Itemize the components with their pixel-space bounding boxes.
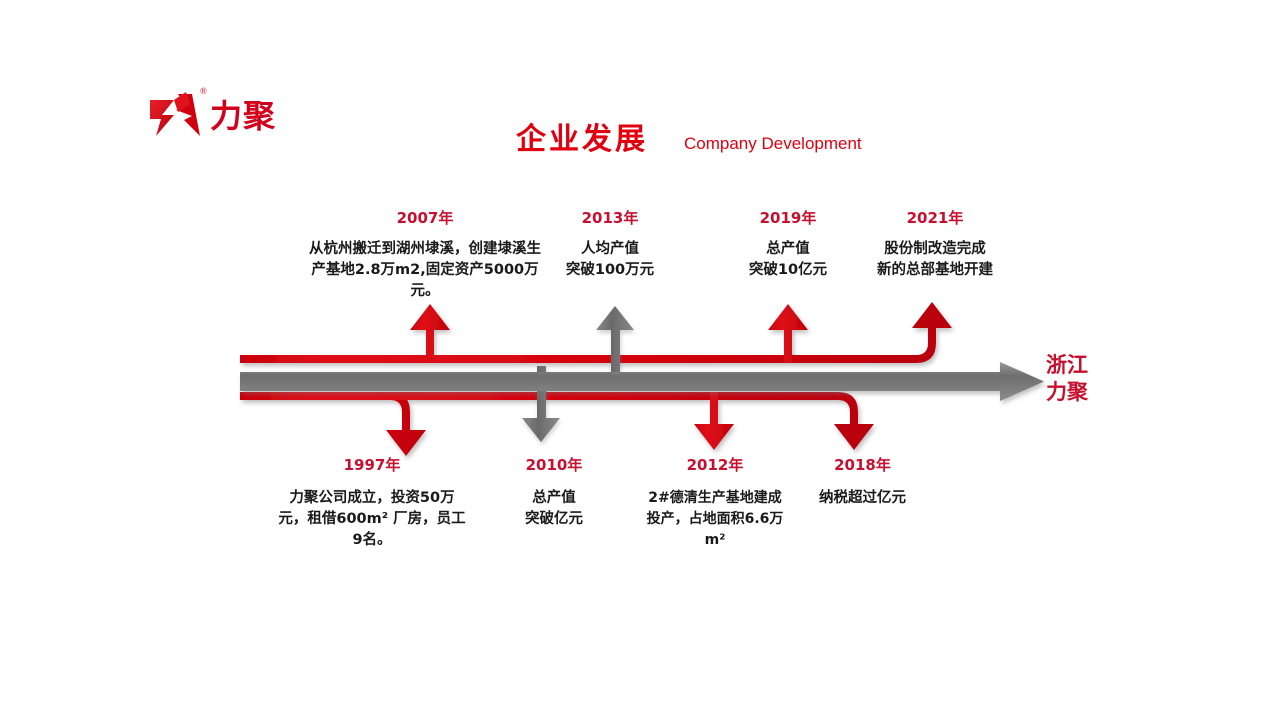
slide-canvas: ® 力聚 企业发展 Company Development <box>0 0 1280 720</box>
end-label-line-2: 力聚 <box>1046 379 1116 406</box>
event-desc: 从杭州搬迁到湖州埭溪，创建埭溪生产基地2.8万m2,固定资产5000万元。 <box>305 239 545 302</box>
event-year: 2018年 <box>795 455 930 475</box>
event-2013: 2013年 人均产值突破100万元 <box>535 208 685 281</box>
event-desc: 总产值突破亿元 <box>484 488 624 530</box>
event-2021: 2021年 股份制改造完成新的总部基地开建 <box>855 208 1015 281</box>
event-2010: 2010年 总产值突破亿元 <box>484 455 624 530</box>
timeline-end-label: 浙江 力聚 <box>1046 352 1116 406</box>
event-2019: 2019年 总产值突破10亿元 <box>713 208 863 281</box>
event-desc: 2#德清生产基地建成投产，占地面积6.6万m² <box>645 488 785 551</box>
event-desc: 力聚公司成立，投资50万元，租借600m² 厂房，员工9名。 <box>276 488 468 551</box>
event-year: 2010年 <box>484 455 624 475</box>
event-1997: 1997年 力聚公司成立，投资50万元，租借600m² 厂房，员工9名。 <box>276 455 468 551</box>
event-desc: 人均产值突破100万元 <box>535 239 685 281</box>
event-desc: 总产值突破10亿元 <box>713 239 863 281</box>
event-year: 1997年 <box>276 455 468 475</box>
event-year: 2019年 <box>713 208 863 228</box>
event-2012: 2012年 2#德清生产基地建成投产，占地面积6.6万m² <box>645 455 785 551</box>
upper-red-track <box>240 302 952 363</box>
event-year: 2021年 <box>855 208 1015 228</box>
event-year: 2013年 <box>535 208 685 228</box>
event-year: 2012年 <box>645 455 785 475</box>
event-desc: 股份制改造完成新的总部基地开建 <box>855 239 1015 281</box>
end-label-line-1: 浙江 <box>1046 352 1116 379</box>
event-2018: 2018年 纳税超过亿元 <box>795 455 930 509</box>
event-year: 2007年 <box>305 208 545 228</box>
event-2007: 2007年 从杭州搬迁到湖州埭溪，创建埭溪生产基地2.8万m2,固定资产5000… <box>305 208 545 302</box>
event-desc: 纳税超过亿元 <box>795 488 930 509</box>
